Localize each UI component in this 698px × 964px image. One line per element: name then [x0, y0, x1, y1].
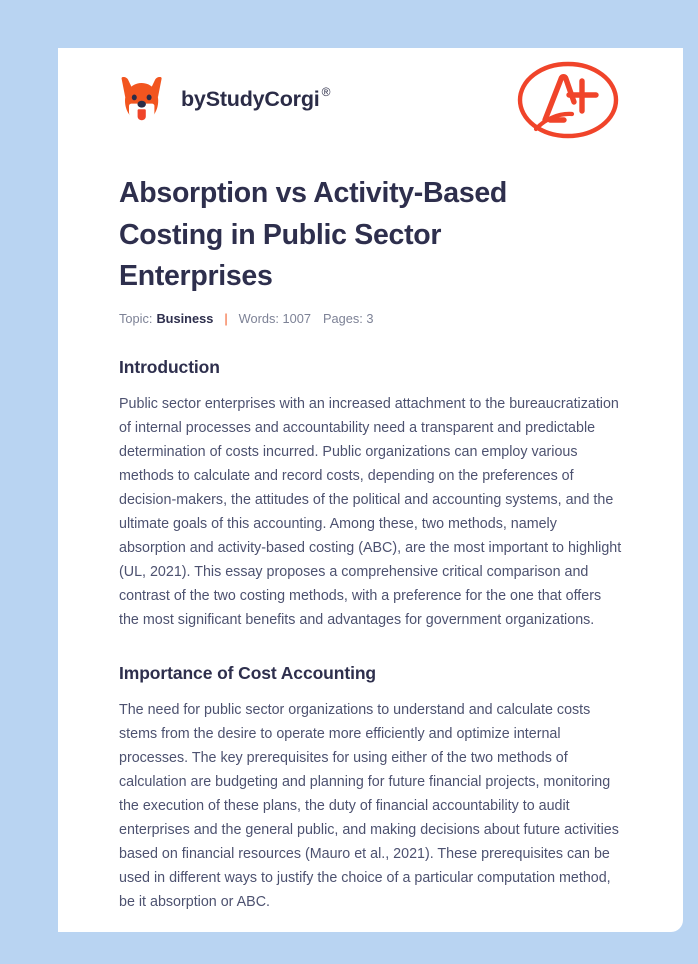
section-paragraph-introduction: Public sector enterprises with an increa… — [119, 378, 622, 632]
section-paragraph-importance-of-cost-accounting: The need for public sector organizations… — [119, 684, 622, 914]
section-heading-importance-of-cost-accounting: Importance of Cost Accounting — [119, 632, 622, 684]
corgi-face-icon — [119, 74, 165, 126]
brand-prefix: by — [181, 87, 206, 112]
section-heading-introduction: Introduction — [119, 326, 622, 378]
brand-name: StudyCorgi — [206, 87, 320, 112]
meta-topic-link[interactable]: Business — [156, 311, 213, 326]
meta-word-count: Words: 1007 — [239, 311, 311, 326]
document-header: by StudyCorgi ® — [119, 48, 622, 151]
registered-trademark-icon: ® — [322, 85, 331, 99]
brand-lockup[interactable]: by StudyCorgi ® — [119, 74, 330, 126]
document-meta: Topic: Business | Words: 1007 Pages: 3 — [119, 311, 622, 326]
document-sheet: by StudyCorgi ® Absorption vs Activity-B… — [58, 48, 683, 932]
brand-wordmark: by StudyCorgi ® — [181, 87, 330, 112]
meta-separator: | — [224, 311, 227, 326]
meta-topic-label: Topic: — [119, 311, 152, 326]
meta-page-count: Pages: 3 — [323, 311, 374, 326]
page-title: Absorption vs Activity-Based Costing in … — [119, 151, 559, 298]
a-plus-grade-badge-icon — [514, 57, 622, 143]
